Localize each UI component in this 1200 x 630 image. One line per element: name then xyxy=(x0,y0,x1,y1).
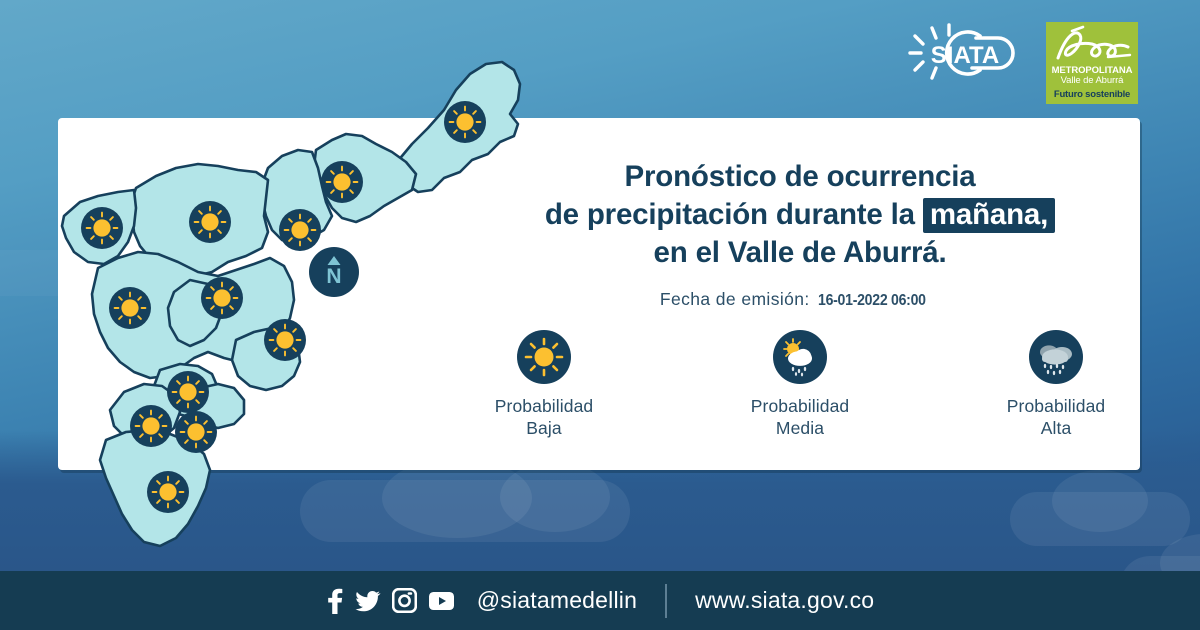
legend-label-line1: Probabilidad xyxy=(1007,395,1106,417)
footer-divider xyxy=(665,584,667,618)
social-handle[interactable]: @siatamedellin xyxy=(477,587,637,614)
map-marker-sun-icon[interactable] xyxy=(279,209,321,251)
legend-item-media: Probabilidad Media xyxy=(726,330,874,440)
title-line-1: Pronóstico de ocurrencia xyxy=(470,158,1130,196)
probability-legend: Probabilidad Baja xyxy=(470,330,1130,440)
amva-logo: METROPOLITANA Valle de Aburrá Futuro sos… xyxy=(1046,22,1138,104)
legend-item-baja: Probabilidad Baja xyxy=(470,330,618,440)
legend-item-alta: Probabilidad Alta xyxy=(982,330,1130,440)
title-line-2: de precipitación durante la mañana, xyxy=(470,196,1130,234)
twitter-icon[interactable] xyxy=(355,588,381,614)
siata-logo-text: SIATA xyxy=(931,42,999,69)
title-line-2-pre: de precipitación durante la xyxy=(545,198,923,231)
siata-logo: SIATA xyxy=(902,22,1032,84)
emission-date-value: 16-01-2022 06:00 xyxy=(818,292,926,310)
emission-date-label: Fecha de emisión: xyxy=(660,289,810,310)
legend-label-line2: Alta xyxy=(1007,417,1106,439)
map-marker-sun-icon[interactable] xyxy=(130,405,172,447)
legend-label-line1: Probabilidad xyxy=(751,395,850,417)
headline-block: Pronóstico de ocurrencia de precipitació… xyxy=(470,158,1130,310)
legend-label-baja: Probabilidad Baja xyxy=(495,395,594,440)
title-highlight-manana: mañana, xyxy=(923,198,1055,234)
instagram-icon[interactable] xyxy=(392,588,417,613)
legend-label-line2: Baja xyxy=(495,417,594,439)
logo-group: SIATA METROPOLITANA Valle de Aburrá Futu… xyxy=(902,22,1138,104)
sun-icon xyxy=(517,330,571,384)
title-line-3: en el Valle de Aburrá. xyxy=(470,234,1130,272)
map-marker-sun-icon[interactable] xyxy=(321,161,363,203)
compass-label: N xyxy=(326,265,341,288)
map-marker-sun-icon[interactable] xyxy=(444,101,486,143)
map-marker-sun-icon[interactable] xyxy=(167,371,209,413)
sun-cloud-rain-icon xyxy=(773,330,827,384)
legend-label-alta: Probabilidad Alta xyxy=(1007,395,1106,440)
map-marker-sun-icon[interactable] xyxy=(109,287,151,329)
facebook-icon[interactable] xyxy=(326,588,344,614)
website-url[interactable]: www.siata.gov.co xyxy=(695,587,874,614)
youtube-icon[interactable] xyxy=(428,591,455,611)
legend-label-media: Probabilidad Media xyxy=(751,395,850,440)
infographic-root: SIATA METROPOLITANA Valle de Aburrá Futu… xyxy=(0,0,1200,630)
legend-label-line1: Probabilidad xyxy=(495,395,594,417)
map-marker-sun-icon[interactable] xyxy=(264,319,306,361)
decorative-cloud-icon xyxy=(1052,470,1148,532)
map-marker-sun-icon[interactable] xyxy=(189,201,231,243)
map-marker-sun-icon[interactable] xyxy=(81,207,123,249)
amva-line2: Valle de Aburrá xyxy=(1061,76,1124,86)
map-marker-sun-icon[interactable] xyxy=(147,471,189,513)
social-icon-group xyxy=(326,588,455,614)
page-title: Pronóstico de ocurrencia de precipitació… xyxy=(470,158,1130,271)
map-marker-sun-icon[interactable] xyxy=(175,411,217,453)
compass-north-icon: N xyxy=(309,247,359,297)
legend-label-line2: Media xyxy=(751,417,850,439)
amva-tagline: Futuro sostenible xyxy=(1054,90,1130,100)
cloud-rain-icon xyxy=(1029,330,1083,384)
amva-script-icon xyxy=(1050,25,1134,65)
emission-date-row: Fecha de emisión: 16-01-2022 06:00 xyxy=(470,289,1130,310)
footer-bar: @siatamedellin www.siata.gov.co xyxy=(0,571,1200,630)
map-marker-sun-icon[interactable] xyxy=(201,277,243,319)
